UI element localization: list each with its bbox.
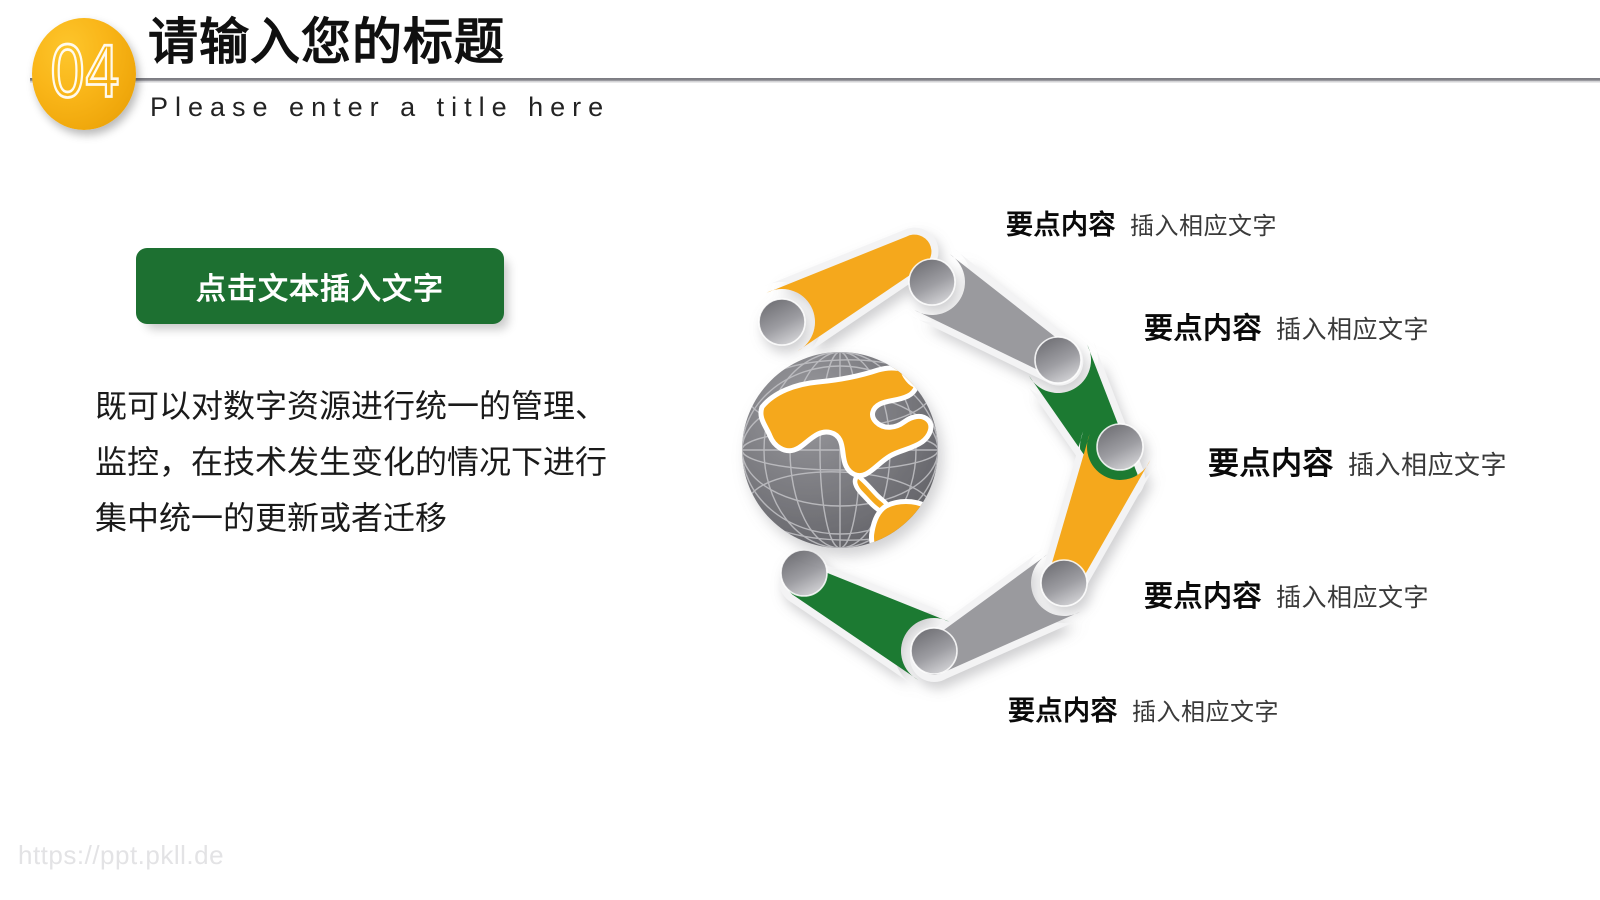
point-label-5[interactable]: 要点内容 插入相应文字 <box>1008 689 1279 728</box>
point-desc: 插入相应文字 <box>1348 445 1507 482</box>
point-desc: 插入相应文字 <box>1276 578 1429 614</box>
point-desc: 插入相应文字 <box>1130 206 1277 241</box>
header-divider <box>30 78 1600 83</box>
insert-text-button[interactable]: 点击文本插入文字 <box>136 248 504 324</box>
point-label-1[interactable]: 要点内容 插入相应文字 <box>1006 203 1277 242</box>
point-label-4[interactable]: 要点内容 插入相应文字 <box>1144 573 1429 615</box>
point-label-3[interactable]: 要点内容 插入相应文字 <box>1208 438 1507 483</box>
point-desc: 插入相应文字 <box>1276 310 1429 346</box>
page-subtitle: Please enter a title here <box>150 92 610 123</box>
chain-globe-diagram <box>700 170 1260 710</box>
point-title: 要点内容 <box>1144 305 1262 347</box>
watermark-url: https://ppt.pkll.de <box>18 840 224 871</box>
point-title: 要点内容 <box>1144 573 1262 615</box>
page-title: 请输入您的标题 <box>148 12 505 72</box>
point-label-2[interactable]: 要点内容 插入相应文字 <box>1144 305 1429 347</box>
insert-text-button-label: 点击文本插入文字 <box>196 264 444 308</box>
section-number-text: 04 <box>49 37 119 108</box>
page-header: 04 请输入您的标题 Please enter a title here <box>0 0 1600 150</box>
section-number-badge: 04 <box>32 18 136 130</box>
point-title: 要点内容 <box>1208 438 1334 483</box>
point-title: 要点内容 <box>1006 203 1116 242</box>
body-paragraph: 既可以对数字资源进行统一的管理、监控，在技术发生变化的情况下进行集中统一的更新或… <box>95 378 615 546</box>
point-desc: 插入相应文字 <box>1132 692 1279 727</box>
point-title: 要点内容 <box>1008 689 1118 728</box>
